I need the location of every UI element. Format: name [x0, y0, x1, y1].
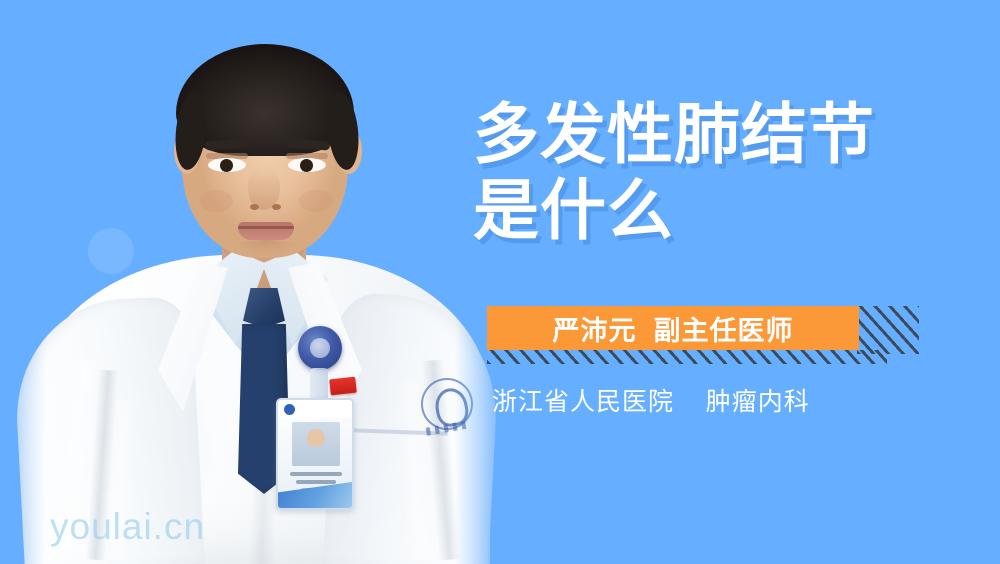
nostril-left	[250, 204, 259, 210]
id-card-text-line	[290, 472, 342, 476]
id-card-wave	[278, 482, 352, 508]
eye-left	[208, 158, 246, 172]
pupil-right	[300, 159, 313, 172]
nostril-right	[272, 204, 281, 210]
page-title: 多发性肺结节 是什么	[473, 96, 973, 248]
mouth	[238, 222, 294, 240]
video-thumbnail-card: 多发性肺结节 是什么 严沛元 副主任医师 浙江省人民医院 肿瘤内科 youlai…	[0, 0, 1000, 564]
staff-id-card	[276, 398, 354, 510]
doctor-portrait	[0, 0, 500, 564]
doctor-name-and-title: 严沛元 副主任医师	[552, 309, 793, 348]
eye-right	[288, 158, 326, 172]
site-watermark: youlai.cn	[50, 506, 205, 548]
lip-line	[238, 226, 294, 229]
necktie-knot	[243, 288, 285, 328]
hatch-pattern-right	[857, 306, 919, 354]
hospital-and-department: 浙江省人民医院 肿瘤内科	[492, 382, 810, 418]
cheek-left	[199, 190, 233, 212]
hospital-logo-icon	[284, 404, 295, 415]
pupil-left	[220, 159, 233, 172]
cheek-right	[299, 190, 333, 212]
doctor-name-badge-group: 严沛元 副主任医师	[487, 306, 917, 370]
id-card-text-line	[296, 480, 336, 484]
doctor-name-badge: 严沛元 副主任医师	[487, 306, 859, 350]
chin-shadow	[232, 240, 300, 256]
flag-pin-icon	[329, 377, 357, 396]
hatch-pattern-bottom	[487, 350, 887, 364]
badge-reel-center	[310, 338, 330, 358]
id-card-photo	[292, 422, 340, 466]
